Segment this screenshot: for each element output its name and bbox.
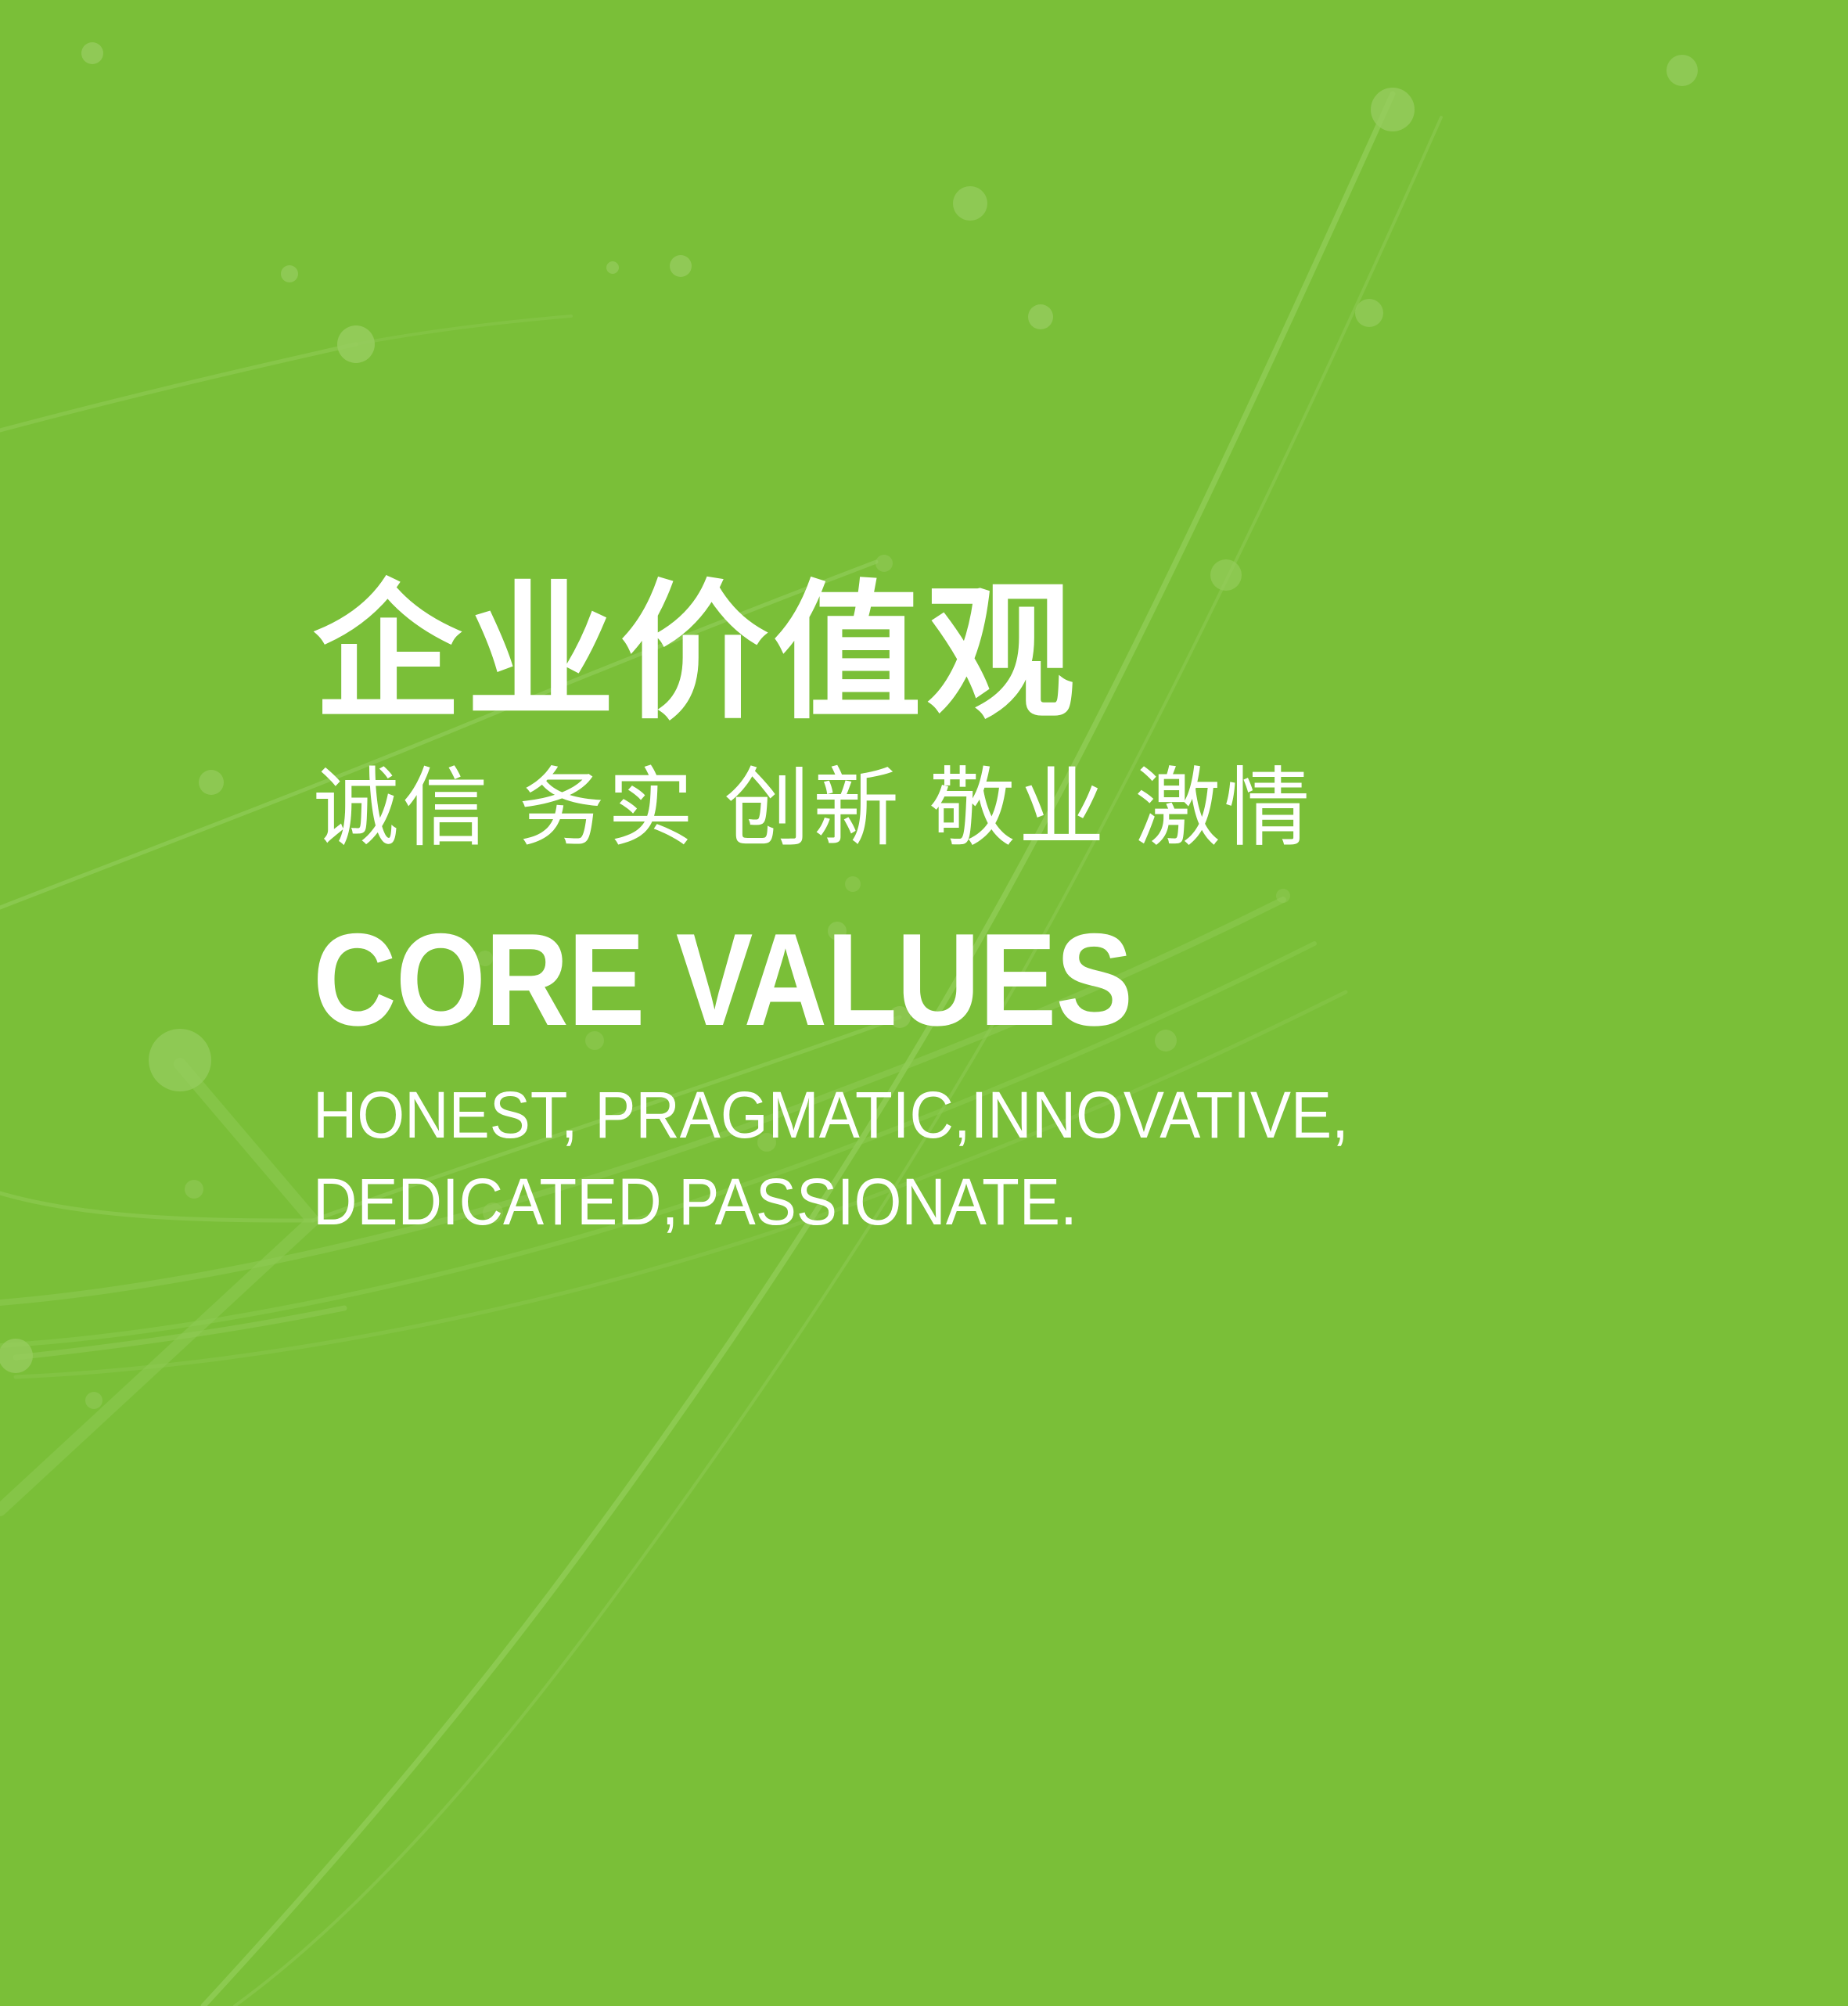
decor-line-bottom-left-tail: [16, 1308, 344, 1357]
decor-node-3: [670, 255, 692, 277]
body-en: HONEST, PRAGMATIC,INNOVATIVE, DEDICATED,…: [313, 1072, 1623, 1246]
decor-line-node-spoke-a: [0, 1064, 313, 1510]
subtitle-cn: 诚信 务实 创新 敬业 激情: [313, 764, 1721, 854]
decor-node-13: [149, 1029, 211, 1091]
decor-node-9: [1355, 299, 1383, 327]
page-title-en: CORE VALUES: [313, 914, 1552, 1045]
decor-node-4: [606, 261, 619, 274]
decor-node-12: [199, 770, 224, 795]
body-en-line-2: DEDICATED,PASSIONATE.: [313, 1159, 1623, 1246]
decor-line-node-top-left: [356, 316, 571, 344]
decor-node-1: [81, 42, 103, 64]
decor-node-8: [1666, 55, 1698, 86]
decor-node-5: [1028, 304, 1053, 329]
core-values-poster: 企业价值观 诚信 务实 创新 敬业 激情 CORE VALUES HONEST,…: [0, 0, 1848, 2006]
decor-line-node-spoke-c: [0, 1193, 313, 1220]
decor-node-22: [85, 1392, 102, 1409]
body-en-line-1: HONEST, PRAGMATIC,INNOVATIVE,: [313, 1072, 1623, 1159]
decor-node-25: [875, 555, 893, 572]
decor-node-2: [281, 265, 298, 282]
decor-line-top-left-tail: [0, 344, 356, 430]
decor-node-7: [1371, 88, 1415, 131]
decor-node-21: [185, 1180, 203, 1199]
text-block: 企业价值观 诚信 务实 创新 敬业 激情 CORE VALUES HONEST,…: [313, 579, 1721, 1246]
decor-node-14: [0, 1339, 33, 1373]
page-title-cn: 企业价值观: [313, 579, 1721, 728]
decor-node-6: [953, 186, 987, 221]
decor-node-11: [337, 325, 375, 363]
